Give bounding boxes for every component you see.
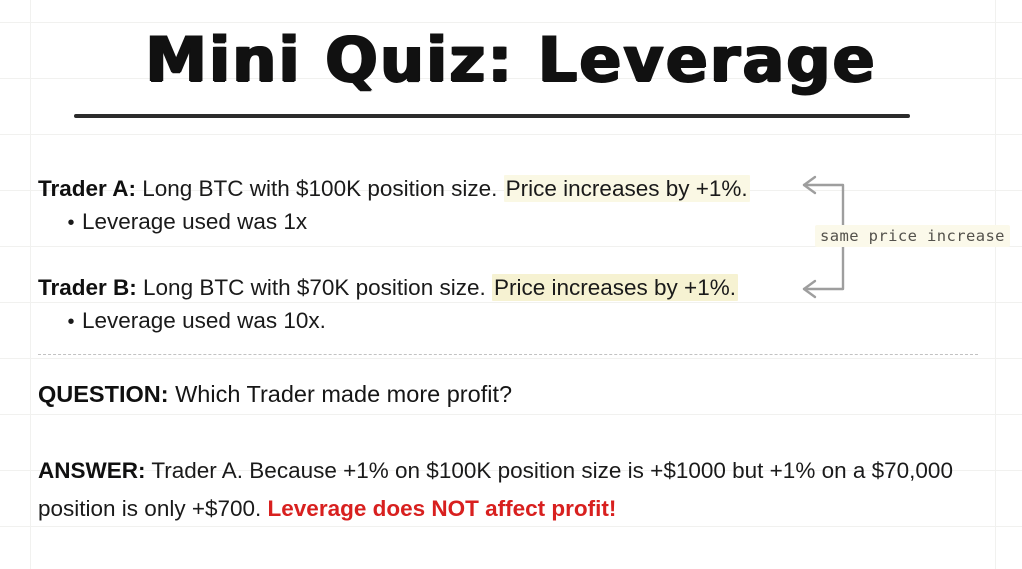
answer-label: ANSWER: <box>38 458 146 483</box>
title-underline <box>74 114 910 118</box>
trader-b-bullet: •Leverage used was 10x. <box>60 304 326 339</box>
annotation-group: same price increase <box>780 168 1022 308</box>
title-block: Mini Quiz: Leverage <box>0 24 1022 96</box>
trader-b-label: Trader B: <box>38 275 137 300</box>
trader-a-detail: Long BTC with $100K position size. <box>136 176 504 201</box>
background-rule-line <box>0 414 1022 415</box>
trader-a-highlight: Price increases by +1%. <box>504 175 750 202</box>
trader-b-statement: Trader B: Long BTC with $70K position si… <box>38 271 738 304</box>
background-rule-line <box>0 134 1022 135</box>
trader-a-bullet: •Leverage used was 1x <box>60 205 307 240</box>
answer-block: ANSWER: Trader A. Because +1% on $100K p… <box>38 452 1018 528</box>
section-divider <box>38 354 978 355</box>
question-text: Which Trader made more profit? <box>169 381 513 407</box>
page-title: Mini Quiz: Leverage <box>0 24 1022 96</box>
trader-a-bullet-text: Leverage used was 1x <box>82 209 307 234</box>
annotation-bracket-icon <box>780 168 1022 308</box>
trader-b-detail: Long BTC with $70K position size. <box>137 275 492 300</box>
bullet-point-icon: • <box>60 306 82 339</box>
trader-a-label: Trader A: <box>38 176 136 201</box>
trader-a-statement: Trader A: Long BTC with $100K position s… <box>38 172 750 205</box>
slide-canvas: Mini Quiz: Leverage Trader A: Long BTC w… <box>0 0 1022 569</box>
answer-emphasis: Leverage does NOT affect profit! <box>268 496 617 521</box>
trader-b-bullet-text: Leverage used was 10x. <box>82 308 326 333</box>
background-rule-line <box>0 358 1022 359</box>
question-label: QUESTION: <box>38 381 169 407</box>
trader-b-highlight: Price increases by +1%. <box>492 274 738 301</box>
bullet-point-icon: • <box>60 207 82 240</box>
annotation-label: same price increase <box>815 225 1010 247</box>
background-rule-line <box>0 246 1022 247</box>
question-line: QUESTION: Which Trader made more profit? <box>38 378 512 410</box>
